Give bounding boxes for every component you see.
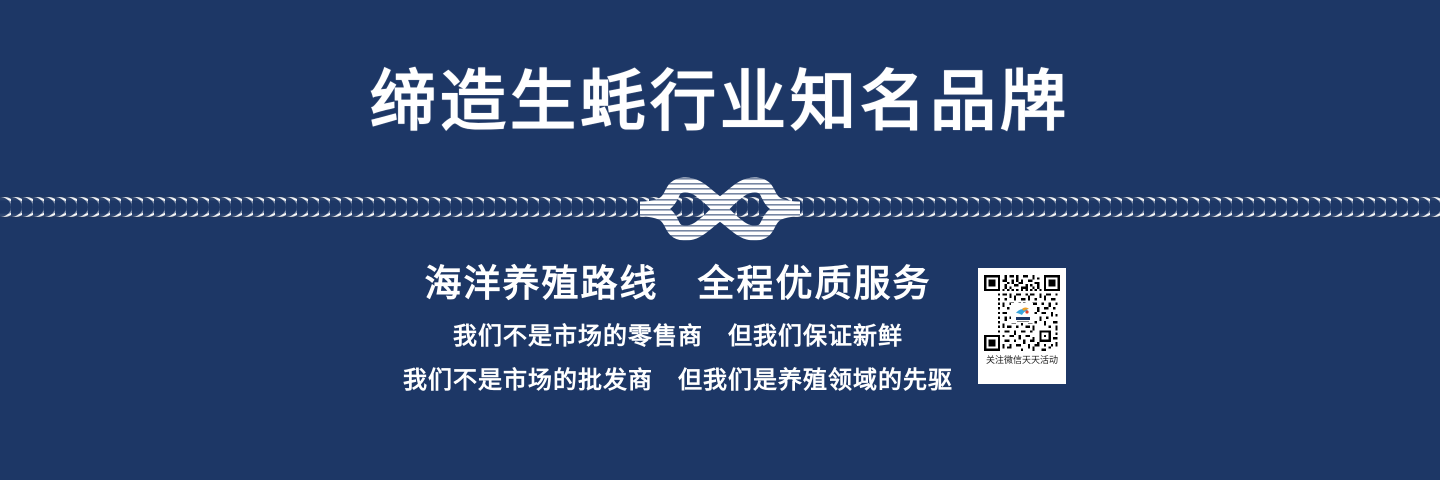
brand-mark-icon <box>1012 304 1033 323</box>
qr-code-card[interactable]: 关注微信天天活动 <box>978 268 1066 384</box>
reef-knot-icon <box>640 170 800 248</box>
banner-tagline-wholesaler: 我们不是市场的批发商 但我们是养殖领域的先驱 <box>0 368 1440 394</box>
page-title: 缔造生蚝行业知名品牌 <box>0 68 1440 134</box>
banner-subtitle: 海洋养殖路线 全程优质服务 <box>0 264 1440 305</box>
qr-code-icon[interactable] <box>984 275 1060 351</box>
promotional-banner: 缔造生蚝行业知名品牌 <box>0 0 1440 480</box>
qr-brand-logo-icon <box>1011 303 1033 323</box>
qr-code-caption: 关注微信天天活动 <box>986 355 1058 366</box>
banner-tagline-retailer: 我们不是市场的零售商 但我们保证新鲜 <box>0 324 1440 350</box>
rope-knot-divider <box>0 170 1440 248</box>
